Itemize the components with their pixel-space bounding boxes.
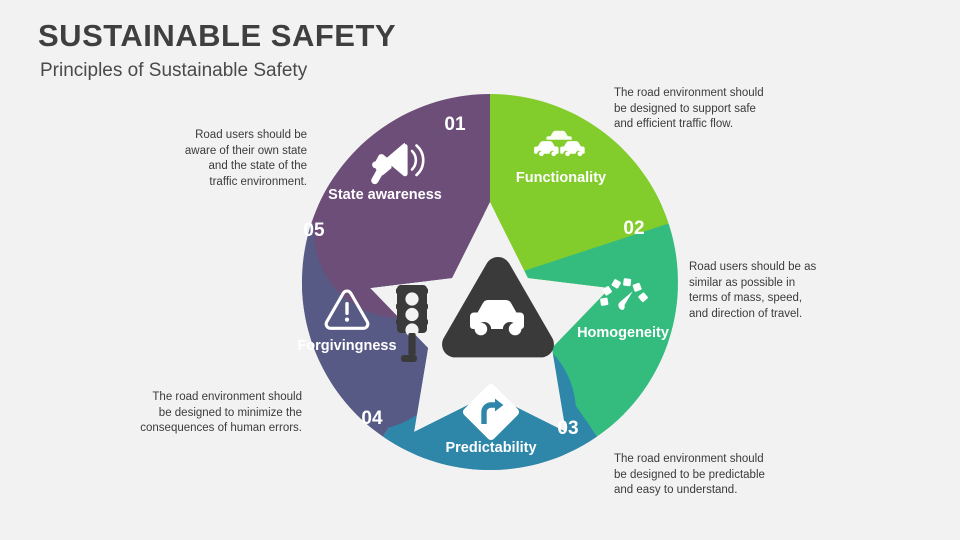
note-forgivingness-line-1: The road environment should	[112, 390, 302, 406]
note-state-awareness-line-3: and the state of the	[155, 159, 307, 175]
note-predictability-line-3: and easy to understand.	[614, 483, 794, 499]
slide-canvas: SUSTAINABLE SAFETY Principles of Sustain…	[0, 0, 960, 540]
note-functionality: The road environment should be designed …	[614, 86, 794, 133]
note-state-awareness: Road users should be aware of their own …	[155, 128, 307, 190]
note-state-awareness-line-1: Road users should be	[155, 128, 307, 144]
segment-number-03: 03	[557, 418, 578, 439]
segment-label-homogeneity: Homogeneity	[577, 325, 669, 341]
segment-label-state-awareness: State awareness	[328, 187, 442, 203]
note-state-awareness-line-4: traffic environment.	[155, 175, 307, 191]
page-subtitle: Principles of Sustainable Safety	[40, 60, 307, 82]
principles-wheel-diagram: 01 02 03 04 05 Functionality Homogeneity…	[260, 82, 720, 482]
note-homogeneity-line-3: terms of mass, speed,	[689, 291, 834, 307]
note-predictability-line-1: The road environment should	[614, 452, 794, 468]
segment-label-functionality: Functionality	[516, 170, 606, 186]
segment-number-01: 01	[444, 114, 466, 135]
note-homogeneity-line-4: and direction of travel.	[689, 307, 834, 323]
segment-label-predictability: Predictability	[445, 440, 536, 456]
note-predictability: The road environment should be designed …	[614, 452, 794, 499]
segment-number-02: 02	[623, 218, 644, 239]
note-forgivingness: The road environment should be designed …	[112, 390, 302, 437]
segment-number-04: 04	[361, 408, 383, 429]
note-predictability-line-2: be designed to be predictable	[614, 468, 794, 484]
note-state-awareness-line-2: aware of their own state	[155, 144, 307, 160]
note-forgivingness-line-2: be designed to minimize the	[112, 406, 302, 422]
note-homogeneity-line-2: similar as possible in	[689, 276, 834, 292]
note-homogeneity-line-1: Road users should be as	[689, 260, 834, 276]
page-title: SUSTAINABLE SAFETY	[38, 18, 396, 54]
note-functionality-line-2: be designed to support safe	[614, 102, 794, 118]
segment-number-05: 05	[303, 220, 325, 241]
note-homogeneity: Road users should be as similar as possi…	[689, 260, 834, 322]
note-forgivingness-line-3: consequences of human errors.	[112, 421, 302, 437]
note-functionality-line-3: and efficient traffic flow.	[614, 117, 794, 133]
segment-label-forgivingness: Forgivingness	[297, 338, 396, 354]
note-functionality-line-1: The road environment should	[614, 86, 794, 102]
